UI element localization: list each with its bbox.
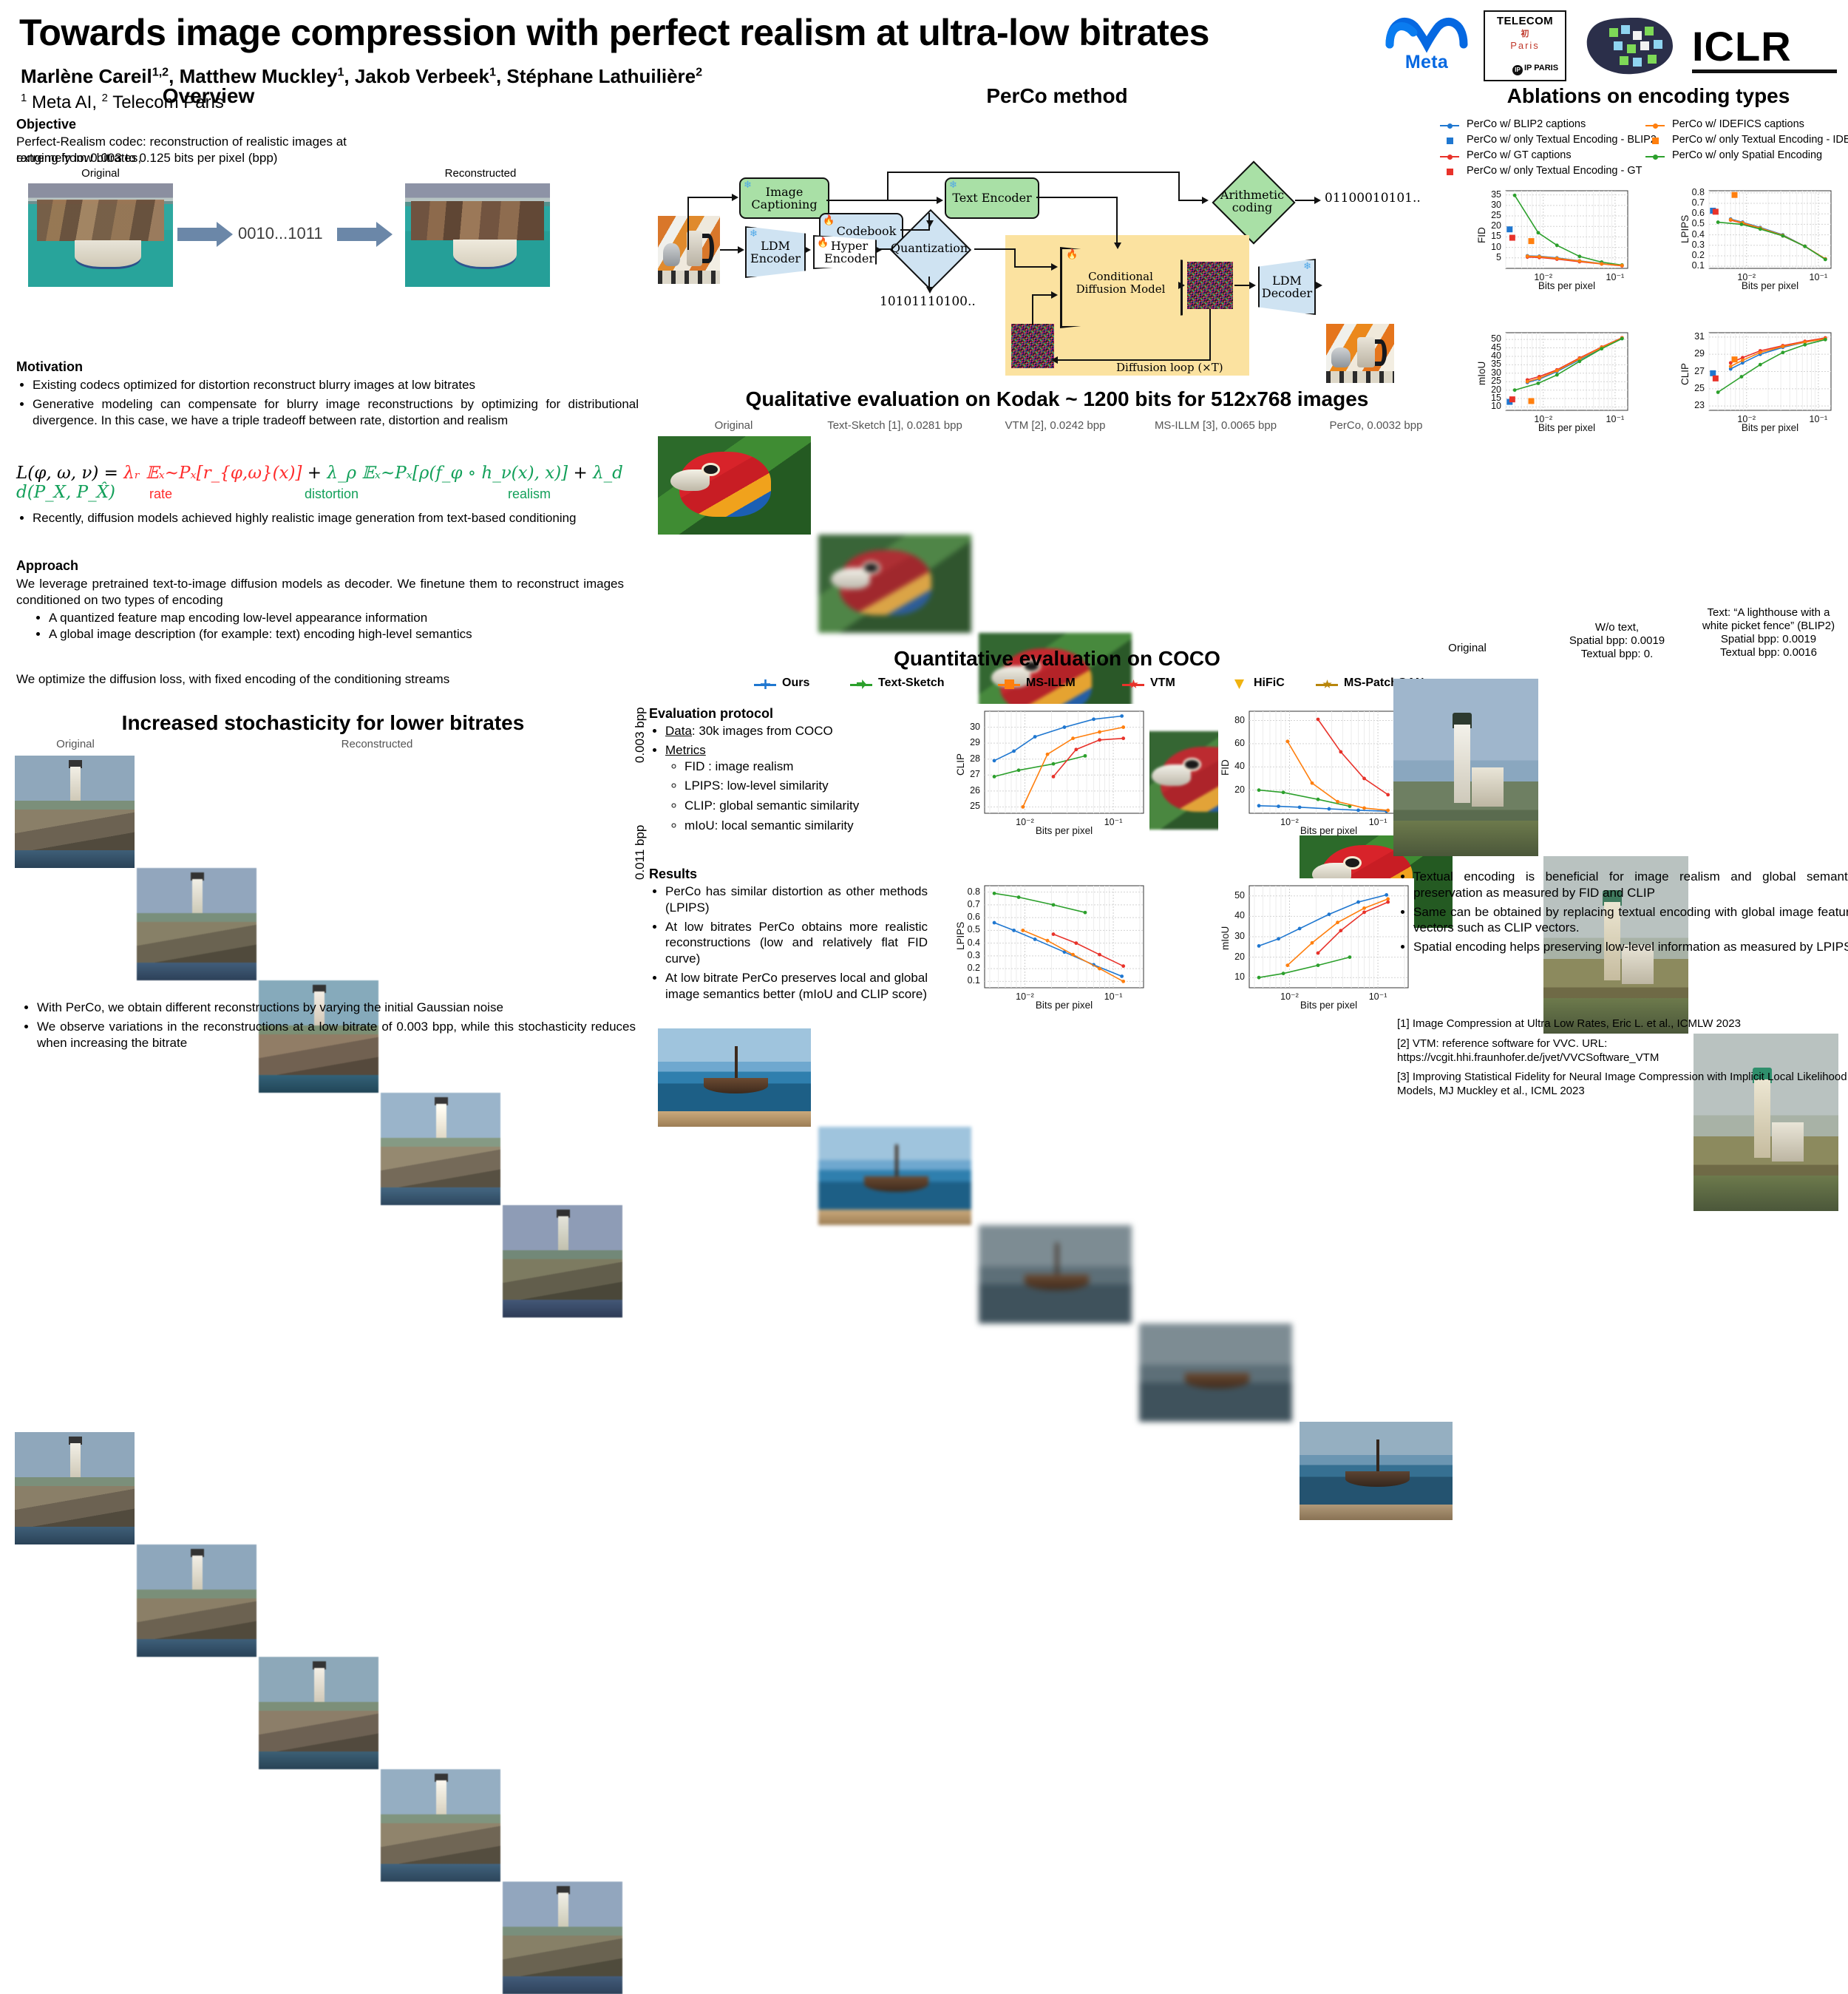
edge-noise-up [1032,294,1033,325]
stoch-r2-c3-image [259,1657,378,1769]
results-bullet-2: At low bitrates PerCo obtains more reali… [665,919,928,967]
edge-caption-to-textencoder [826,200,937,201]
y-tick-label: 30 [954,722,980,732]
legend-marker-square-icon [1005,679,1014,689]
equation-label-distortion: distortion [305,486,359,502]
y-tick-label: 0.1 [1678,260,1705,271]
ablation-bullet-3: Spatial encoding helps preserving low-le… [1413,939,1848,955]
approach-heading: Approach [16,558,78,574]
stoch-r1-c2-image [137,868,257,980]
meta-logo: Meta [1371,7,1482,73]
metric-miou: mIoU: local semantic similarity [684,818,931,835]
stochasticity-image-grid [15,756,621,985]
kodak-r2-c1-image [658,1028,811,1127]
kodak-col-2-label: Text-Sketch [1], 0.0281 bpp [819,419,971,433]
approach-sub-bullet-2: A global image description (for example:… [49,626,648,642]
y-tick-label: 31 [1678,331,1705,342]
logo-row: Meta TELECOM 初 Paris IPIP PARIS [1371,6,1837,87]
equation-rate-term: λᵣ 𝔼ₓ~Pₓ[r_{φ,ω}(x)] [123,464,302,483]
diffusion-noise-output-image [1187,262,1233,309]
arrow-arith-out [1314,197,1321,204]
kodak-column-labels: Original Text-Sketch [1], 0.0281 bpp VTM… [658,419,1450,435]
edge-input-up [687,197,689,250]
y-tick-label: 30 [1475,200,1501,210]
plot-ablation-clip[interactable]: 232527293110⁻²10⁻¹Bits per pixelCLIP [1678,325,1837,433]
snowflake-icon-2: ❄ [949,180,957,191]
metrics-list: FID : image realism LPIPS: low-level sim… [665,759,931,835]
y-tick-label: 0.2 [954,963,980,973]
coco-legend: Ours Text-Sketch MS-ILLM VTM HiFiC MS-Pa… [754,676,1449,694]
coco-legend-label-2: MS-ILLM [1026,676,1076,690]
ablation-img-col1-caption: Original [1393,621,1541,655]
x-axis-label: Bits per pixel [985,825,1144,836]
edge-to-decoder [1234,285,1251,286]
kodak-r1-c1-image [658,436,811,535]
ablation-img-col3-caption: Text: “A lighthouse with a white picket … [1693,606,1844,659]
telecom-line-3: Paris [1485,40,1565,51]
abl-legend-label-0: PerCo w/ BLIP2 captions [1467,118,1586,130]
x-axis-label: Bits per pixel [1709,280,1831,291]
edge-codebook-right [900,229,930,231]
arrow-diff-in2 [1051,291,1058,299]
approach-sub-bullet-1: A quantized feature map encoding low-lev… [49,610,648,626]
x-axis-label: Bits per pixel [1249,1000,1408,1011]
diagram-input-image [658,216,720,284]
y-tick-label: 0.6 [954,912,980,922]
node-image-captioning[interactable]: ❄ Image Captioning [739,177,829,219]
edge-textenc-right [1036,197,1118,198]
kodak-r2-c3-image [979,1225,1132,1323]
kodak-col-5-label: PerCo, 0.0032 bpp [1300,419,1452,433]
snowflake-icon-4: ❄ [1303,262,1311,272]
telecom-line-2: 初 [1485,27,1565,39]
edge-noise-to-diff [1032,294,1053,296]
edge-caption-up [887,172,889,201]
y-axis-label: CLIP [1679,362,1691,384]
y-tick-label: 5 [1475,252,1501,262]
stoch-r2-c2-image [137,1544,257,1657]
ablation-col3-line-4: Textual bpp: 0.0016 [1693,646,1844,659]
y-tick-label: 10 [1218,971,1245,982]
x-axis-label: Bits per pixel [985,1000,1144,1011]
x-axis-label: Bits per pixel [1506,280,1628,291]
node-arithmetic-coding[interactable]: Arithmetic coding [1211,173,1294,229]
legend-marker-triangle-icon [1234,679,1244,689]
stoch-r1-c1-image [15,756,135,868]
diffusion-noise-input-image [1011,324,1054,368]
ablation-img-col2-caption: W/o text, Spatial bpp: 0.0019 Textual bp… [1545,621,1689,661]
y-tick-label: 50 [1218,890,1245,901]
results-bullet-1: PerCo has similar distortion as other me… [665,884,928,916]
plot-coco-clip[interactable]: 25262728293010⁻²10⁻¹Bits per pixelCLIP [954,704,1149,835]
method-heading: PerCo method [658,84,1456,108]
ablation-bullet-2: Same can be obtained by replacing textua… [1413,904,1848,937]
equation-lhs: L(φ, ω, ν) = [16,464,118,483]
arrow-diff-out [1178,282,1185,289]
ablation-col3-line-3: Spatial bpp: 0.0019 [1693,633,1844,646]
ablation-col2-line-3: Textual bpp: 0. [1545,648,1689,661]
protocol-metrics-item: Metrics FID : image realism LPIPS: low-l… [665,742,931,835]
diffusion-loop-label: Diffusion loop (×T) [1116,361,1223,374]
motivation-heading: Motivation [16,359,83,375]
snowflake-icon-3: ❄ [750,229,758,240]
abl-legend-label-6: PerCo w/ only Textual Encoding - GT [1467,165,1642,177]
equation-distortion-term: λ_ρ 𝔼ₓ~Pₓ[ρ(f_φ ∘ h_ν(x), x)] [327,464,568,483]
equation-label-rate: rate [149,486,172,502]
protocol-bullets: Data: 30k images from COCO Metrics FID :… [649,723,931,838]
ablation-bullets: Textual encoding is beneficial for image… [1397,869,1848,958]
author-4-affil: 2 [696,65,702,78]
y-tick-label: 29 [1678,348,1705,359]
metric-fid: FID : image realism [684,759,931,776]
y-tick-label: 25 [954,801,980,811]
fire-icon-3: 🔥 [1066,248,1078,260]
fire-icon-2: 🔥 [817,238,829,248]
y-tick-label: 0.3 [954,950,980,960]
results-heading: Results [649,867,697,882]
kodak-col-3-label: VTM [2], 0.0242 bpp [979,419,1131,433]
node-ldm-decoder-label: LDM Decoder [1260,274,1314,300]
edge-input-to-caption [687,197,733,198]
perco-method-diagram: ❄ Image Captioning 🔥 Codebook ❄ Text Enc… [658,170,1441,377]
coco-legend-label-1: Text-Sketch [878,676,945,690]
diagram-quant-bitstring: 10101110100.. [880,294,976,309]
plot-ablation-lpips[interactable]: 0.10.20.30.40.50.60.70.810⁻²10⁻¹Bits per… [1678,183,1837,291]
arrow-diff-in1 [1051,263,1058,271]
stoch-r1-c4-image [381,1093,500,1205]
abl-legend-label-2: PerCo w/ only Textual Encoding - BLIP2 [1467,134,1657,146]
y-tick-label: 20 [1218,784,1245,795]
kodak-r2-c2-image [818,1127,971,1225]
node-quantization-label: Quantization [891,242,968,254]
iclr-logo: ICLR [1580,10,1838,83]
arrow-to-captioning [732,194,738,201]
node-ldm-decoder[interactable]: ❄ LDM Decoder [1258,259,1316,315]
iclr-wordmark: ICLR [1692,22,1792,70]
kodak-r2-c5-image [1300,1422,1453,1520]
legend-marker-plus-icon [761,679,770,689]
objective-heading: Objective [16,117,76,132]
y-axis-label: mIoU [1476,361,1487,384]
coco-legend-label-0: Ours [782,676,809,690]
reference-2: [2] VTM: reference software for VVC. URL… [1397,1037,1841,1065]
arrow-decoder-out [1316,282,1322,289]
protocol-data-item: Data: 30k images from COCO [665,723,931,739]
ip-paris-mark-icon: IP [1512,65,1523,75]
kodak-col-1-label: Original [658,419,809,433]
arrow-loop-back [1051,356,1058,364]
protocol-data-value: : 30k images from COCO [692,724,833,738]
results-bullets: PerCo has similar distortion as other me… [649,884,928,1005]
ablation-col2-line-1: W/o text, [1545,621,1689,634]
equation-plus-2: + [573,464,587,483]
kodak-image-grid [658,436,1453,636]
node-text-encoder-label: Text Encoder [952,191,1031,204]
metric-lpips: LPIPS: low-level similarity [684,778,931,795]
motivation-bullet-3: Recently, diffusion models achieved high… [33,510,639,526]
kodak-heading: Qualitative evaluation on Kodak ~ 1200 b… [658,387,1456,411]
motivation-bullet-1: Existing codecs optimized for distortion… [33,377,639,393]
edge-image-to-ldm [720,249,739,251]
stochasticity-reconstructed-label: Reconstructed [148,738,606,751]
decode-arrow-icon [337,222,393,247]
encode-arrow-icon [177,222,233,247]
abl-legend-label-5: PerCo w/ only Spatial Encoding [1672,149,1822,161]
arrow-hyper-to-quant [875,246,882,254]
kodak-r2-c4-image [1139,1323,1292,1422]
plot-ablation-miou[interactable]: 10152025303540455010⁻²10⁻¹Bits per pixel… [1475,325,1634,433]
coco-heading: Quantitative evaluation on COCO [658,647,1456,671]
x-axis-label: Bits per pixel [1249,825,1408,836]
kodak-col-4-label: MS-ILLM [3], 0.0065 bpp [1140,419,1291,433]
stoch-r2-c4-image [381,1769,500,1882]
node-ldm-encoder[interactable]: ❄ LDM Encoder [745,226,806,278]
ablation-original-image [1393,679,1538,856]
y-axis-label: FID [1476,227,1487,243]
ip-paris-text: IP PARIS [1524,64,1558,72]
edge-bus-down [1178,172,1180,201]
abl-legend-label-1: PerCo w/ IDEFICS captions [1672,118,1804,130]
stoch-r2-c5-image [503,1882,622,1994]
author-3-affil: 1 [489,65,496,78]
ablation-col3-line-2: white picket fence” (BLIP2) [1693,620,1844,633]
y-tick-label: 0.8 [954,886,980,897]
edge-quant-down2 [1014,248,1016,268]
plot-coco-fid[interactable]: 2040608010⁻²10⁻¹Bits per pixelFID [1218,704,1414,835]
equation-label-realism: realism [508,486,551,502]
y-tick-label: 35 [1475,189,1501,200]
abl-legend-label-3: PerCo w/ only Textual Encoding - IDEFICS [1672,134,1848,146]
arrow-quant-bits [926,287,934,294]
ablations-legend: PerCo w/ BLIP2 captions PerCo w/ IDEFICS… [1440,118,1848,167]
stochasticity-heading: Increased stochasticity for lower bitrat… [16,711,630,735]
y-axis-label: LPIPS [955,922,966,950]
y-tick-label: 0.2 [1678,250,1705,260]
stochasticity-original-label: Original [16,738,135,751]
overview-heading: Overview [16,84,401,108]
y-tick-label: 20 [1218,952,1245,962]
arrow-to-ldm-encoder [738,246,744,254]
overview-reconstructed-label: Reconstructed [403,167,558,180]
edge-arith-out [1295,200,1316,201]
stochasticity-bullets: With PerCo, we obtain different reconstr… [21,1000,636,1054]
arrow-to-arithmetic [1202,197,1209,204]
edge-top-bus [887,172,1180,173]
y-tick-label: 26 [954,785,980,796]
arrow-codebook-to-quant [926,220,934,227]
y-axis-label: mIoU [1220,926,1231,950]
plot-coco-miou[interactable]: 102030405010⁻²10⁻¹Bits per pixelmIoU [1218,878,1414,1010]
approach-paragraph-2: We optimize the diffusion loss, with fix… [16,671,624,688]
x-axis-label: Bits per pixel [1709,422,1831,433]
y-tick-label: 0.8 [1678,187,1705,197]
stoch-r1-c5-image [503,1205,622,1318]
node-hyper-encoder[interactable]: 🔥 Hyper Encoder [813,235,877,269]
coco-legend-label-3: VTM [1150,676,1175,690]
motivation-bullets: Existing codecs optimized for distortion… [16,377,639,431]
plot-ablation-fid[interactable]: 510152025303510⁻²10⁻¹Bits per pixelFID [1475,183,1634,291]
edge-bus-to-arith [1178,200,1203,201]
edge-loop-down [1209,309,1211,361]
y-tick-label: 80 [1218,715,1245,725]
y-tick-label: 0.7 [1678,197,1705,208]
arrow-to-textencoder [937,197,943,204]
page-title: Towards image compression with perfect r… [19,13,1365,52]
y-tick-label: 0.7 [954,899,980,909]
ip-paris-logo: IPIP PARIS [1510,64,1560,75]
y-tick-label: 60 [1218,738,1245,748]
node-conditional-diffusion-label: Conditional Diffusion Model [1066,271,1175,295]
meta-infinity-icon [1382,7,1471,53]
equation-plus-1: + [308,464,322,483]
node-arithmetic-coding-label: Arithmetic coding [1211,189,1294,214]
protocol-metrics-key: Metrics [665,743,706,757]
ablation-col3-line-1: Text: “A lighthouse with a [1693,606,1844,620]
author-1-affil: 1,2 [152,65,169,78]
overview-original-image [28,183,173,287]
ablation-col2-line-2: Spatial bpp: 0.0019 [1545,634,1689,648]
approach-sub-bullets: A quantized feature map encoding low-lev… [16,610,648,642]
edge-quant-to-diff [974,248,1016,250]
overview-original-label: Original [27,167,174,180]
reference-3: [3] Improving Statistical Fidelity for N… [1397,1070,1848,1098]
kodak-r1-c2-image [818,535,971,633]
y-tick-label: 0.1 [954,975,980,986]
legend-marker-arrow-icon [857,679,866,689]
y-tick-label: 50 [1475,333,1501,344]
metric-clip: CLIP: global semantic similarity [684,798,931,815]
fire-icon: 🔥 [823,216,835,226]
edge-textenc-down [1116,197,1118,245]
y-tick-label: 25 [1475,210,1501,220]
coco-legend-label-4: HiFiC [1254,676,1285,690]
objective-line-2: ranging from 0.003 to 0.125 bits per pix… [16,150,401,166]
iclr-brain-icon [1580,12,1691,81]
reference-1: [1] Image Compression at Ultra Low Rates… [1397,1017,1841,1031]
x-axis-label: Bits per pixel [1506,422,1628,433]
y-tick-label: 23 [1678,400,1705,410]
y-tick-label: 40 [1218,910,1245,920]
approach-paragraph-1: We leverage pretrained text-to-image dif… [16,576,624,608]
y-tick-label: 29 [954,737,980,747]
overview-reconstructed-image [405,183,550,287]
node-text-encoder[interactable]: ❄ Text Encoder [945,177,1039,219]
plot-coco-lpips[interactable]: 0.10.20.30.40.50.60.70.810⁻²10⁻¹Bits per… [954,878,1149,1010]
arrow-textenc-to-diff [1114,243,1121,249]
telecom-line-1: TELECOM [1485,16,1565,27]
overview-bitstring: 0010...1011 [238,224,323,243]
node-image-captioning-label: Image Captioning [741,186,828,211]
edge-to-diff-in1 [1014,266,1053,268]
stochasticity-bullet-1: With PerCo, we obtain different reconstr… [37,1000,636,1016]
protocol-heading: Evaluation protocol [649,706,773,722]
y-axis-label: LPIPS [1679,214,1691,243]
diagram-output-bitstring: 01100010101.. [1325,191,1421,206]
iclr-underline [1692,69,1837,73]
arrow-ldm-to-hyper [804,246,811,254]
ablations-heading: Ablations on encoding types [1460,84,1837,108]
stochasticity-row2-bitrate-label: 0.011 bpp [633,825,648,880]
abl-legend-label-4: PerCo w/ GT captions [1467,149,1572,161]
protocol-data-key: Data [665,724,692,738]
arrow-to-decoder [1249,282,1256,289]
diagram-output-image [1326,324,1394,383]
stochasticity-bullet-2: We observe variations in the reconstruct… [37,1019,636,1051]
results-bullet-3: At low bitrate PerCo preserves local and… [665,970,928,1003]
meta-wordmark: Meta [1371,52,1482,73]
node-ldm-encoder-label: LDM Encoder [747,240,804,265]
motivation-bullet-2: Generative modeling can compensate for b… [33,396,639,429]
ablation-bullet-1: Textual encoding is beneficial for image… [1413,869,1848,901]
y-axis-label: CLIP [955,753,966,776]
stochasticity-row1-bitrate-label: 0.003 bpp [633,707,648,763]
y-axis-label: FID [1220,759,1231,776]
ablation-col1-label: Original [1393,642,1541,655]
motivation-bullet-3-wrap: Recently, diffusion models achieved high… [16,510,639,529]
stoch-r2-c1-image [15,1432,135,1544]
snowflake-icon: ❄ [744,180,752,191]
